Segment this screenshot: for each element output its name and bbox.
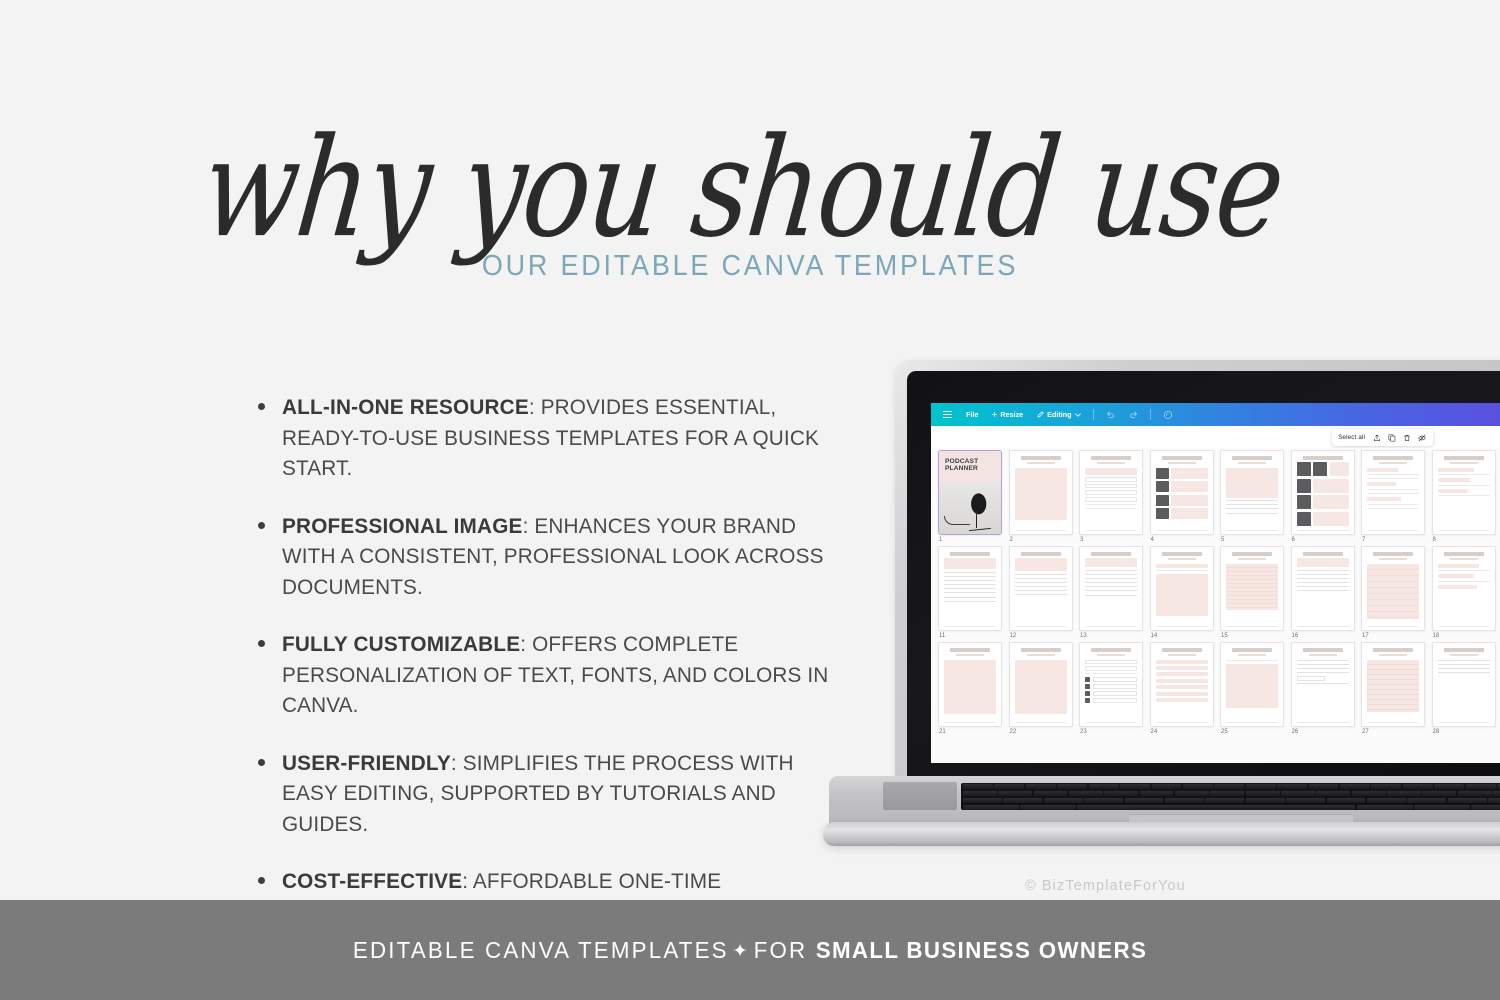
thumb-footer [1439,722,1489,723]
page-number: 6 [1291,535,1355,543]
thumb-field [1297,676,1326,681]
thumb-footer [1016,626,1066,627]
thumb-image-box [1085,698,1090,703]
mic-stand [976,514,977,528]
page-thumbnail-cell[interactable]: 3 [1079,450,1143,543]
thumb-subheading [1450,462,1478,464]
undo-button[interactable] [1099,407,1122,422]
thumb-line [1015,582,1067,583]
canva-action-bar-area: Select all [931,426,1500,448]
list-item-text: PROFESSIONAL IMAGE: ENHANCES YOUR BRAND … [282,511,842,603]
page-thumbnail-cell[interactable]: 22 [1009,642,1073,735]
page-number: 8 [1432,535,1496,543]
thumb-field [1085,477,1137,482]
thumb-block [1226,664,1278,708]
page-action-toolbar: Select all [1332,429,1433,446]
page-number: 2 [1009,535,1073,543]
thumb-subheading [1238,654,1266,656]
watermark: © BizTemplateForYou [1025,878,1186,894]
thumb-heading [1162,648,1202,652]
thumb-line [944,580,996,581]
hide-eye-icon[interactable] [1416,432,1427,443]
page-number: 17 [1361,631,1425,639]
thumb-subheading [1168,654,1196,656]
page-thumbnail[interactable] [1220,450,1284,535]
thumb-heading [1091,648,1131,652]
thumb-subheading [1097,654,1125,656]
page-thumbnail[interactable] [1291,546,1355,631]
resize-label: Resize [1000,410,1023,419]
thumb-field [1085,484,1137,489]
thumb-pill [1156,692,1208,696]
cover-title: PODCASTPLANNER [945,458,997,473]
thumb-heading [1303,456,1343,460]
thumb-image-row [1156,481,1208,492]
thumb-block [1156,574,1208,616]
footer-text: EDITABLE CANVA TEMPLATES✦FOR SMALL BUSIN… [353,937,1147,964]
canva-pages-grid[interactable]: PODCASTPLANNER 1 [931,448,1500,763]
thumb-line [944,572,996,573]
thumb-line [1367,493,1419,494]
page-thumbnail[interactable] [1009,642,1073,727]
mic-cable [944,516,970,525]
page-thumbnail[interactable] [1432,450,1496,535]
thumb-line [1085,586,1137,587]
footer-banner: EDITABLE CANVA TEMPLATES✦FOR SMALL BUSIN… [0,900,1500,1000]
page-subtitle: OUR EDITABLE CANVA TEMPLATES [53,250,1448,283]
microphone-photo [939,482,1001,534]
thumb-line [1438,660,1490,661]
thumb-line [1438,474,1490,475]
thumb-footer [1157,626,1207,627]
page-thumbnail[interactable] [1220,546,1284,631]
chevron-down-icon [1075,413,1081,417]
keyboard-row [961,804,1500,810]
page-number: 16 [1291,631,1355,639]
page-number: 4 [1150,535,1214,543]
list-item: ALL-IN-ONE RESOURCE: PROVIDES ESSENTIAL,… [252,392,862,484]
thumb-line [1015,594,1067,595]
trash-icon[interactable] [1401,432,1412,443]
page-number: 3 [1079,535,1143,543]
thumb-footer [1086,626,1136,627]
list-item: PROFESSIONAL IMAGE: ENHANCES YOUR BRAND … [252,511,862,603]
thumb-line [944,597,996,598]
thumb-block [1171,481,1208,492]
thumb-line [1015,574,1067,575]
thumb-image-row [1156,495,1208,506]
thumb-line [1297,683,1349,684]
page-row: PODCASTPLANNER 1 [938,450,1500,543]
page-thumbnail[interactable] [1361,546,1425,631]
bullet-dot-icon [258,403,265,410]
hamburger-menu-icon[interactable] [939,411,959,419]
page-number: 28 [1432,727,1496,735]
thumb-pill [1156,564,1208,568]
page-thumbnail[interactable] [1432,642,1496,727]
page-thumbnail[interactable] [1150,450,1214,535]
page-thumbnail-cell[interactable]: 14 [1150,546,1214,639]
thumb-line [1297,586,1349,587]
thumb-pill [1156,679,1208,683]
thumb-block [1171,495,1208,506]
thumb-line [1226,508,1278,509]
thumb-block [1226,468,1278,498]
thumb-pill [1367,482,1396,486]
diamond-icon: ✦ [729,941,754,962]
thumb-footer [1016,722,1066,723]
page-thumbnail[interactable] [1079,546,1143,631]
thumb-image-box [1313,462,1327,476]
keyboard-row [961,783,1500,790]
thumb-line [1226,513,1278,514]
laptop-base-front [823,822,1500,846]
canva-toolbar: File Resize Editing [931,403,1500,426]
page-thumbnail[interactable] [1009,450,1073,535]
thumb-image-row [1085,677,1137,682]
thumb-line [1297,668,1349,669]
thumb-block [944,660,996,714]
thumb-field [1093,684,1138,689]
page-thumbnail-cell[interactable]: 24 [1150,642,1214,735]
thumb-line [1085,570,1137,571]
thumb-line [1438,668,1490,669]
keyboard-row [961,797,1500,804]
mic-legs [969,528,991,532]
list-item: FULLY CUSTOMIZABLE: OFFERS COMPLETE PERS… [252,629,862,721]
thumb-image-row [1085,698,1137,703]
keyboard-row [961,790,1500,797]
page-thumbnail-cell[interactable]: 5 [1220,450,1284,543]
thumb-line [1085,673,1137,674]
page-thumbnail-cell[interactable]: 13 [1079,546,1143,639]
page-thumbnail[interactable] [1220,642,1284,727]
page-thumbnail-cell[interactable]: 7 [1361,450,1425,543]
resize-button[interactable]: Resize [985,407,1030,422]
laptop-keyboard [961,783,1500,810]
thumb-pill [1438,489,1468,493]
thumb-line [1156,570,1208,571]
thumb-image-box [1297,462,1311,476]
page-header: why you should use OUR EDITABLE CANVA TE… [0,0,1500,310]
select-all-button[interactable]: Select all [1338,434,1367,441]
thumb-subheading [1027,462,1055,464]
thumb-image-row [1297,479,1349,493]
footer-strong: SMALL BUSINESS OWNERS [816,937,1147,963]
thumb-pill [1438,478,1470,482]
thumb-image-row [1156,508,1208,519]
thumb-block [1330,462,1349,476]
thumb-footer [1368,722,1418,723]
thumb-footer [1227,626,1277,627]
redo-button[interactable] [1122,407,1145,422]
editing-mode-button[interactable]: Editing [1030,407,1087,422]
thumb-pill [1438,585,1477,589]
page-thumbnail[interactable] [1150,642,1214,727]
thumb-subheading [1238,558,1266,560]
page-number: 23 [1079,727,1143,735]
thumb-footer [1157,722,1207,723]
page-thumbnail[interactable] [1291,642,1355,727]
thumb-line [1226,500,1278,501]
page-number: 18 [1432,631,1496,639]
thumb-pill [1156,685,1208,689]
page-number: 25 [1220,727,1284,735]
thumb-image-row [1297,512,1349,526]
page-title: why you should use [0,118,1500,261]
thumb-subheading [956,654,984,656]
thumb-heading [1373,456,1413,460]
thumb-footer [1016,530,1066,531]
thumb-image-row [1297,462,1349,476]
laptop-base [823,776,1500,862]
thumb-pill [1367,468,1398,472]
thumb-image-row [1297,495,1349,509]
thumb-footer [1439,530,1489,531]
thumb-line [1085,574,1137,575]
pencil-icon [1037,411,1044,418]
thumb-image-box [1156,468,1169,479]
toolbar-divider [1093,409,1094,420]
thumb-pill [1156,660,1208,664]
footer-lead: EDITABLE CANVA TEMPLATES [353,937,729,963]
page-thumbnail[interactable] [1009,546,1073,631]
page-thumbnail-cell[interactable]: 23 [1079,642,1143,735]
thumb-heading [1021,456,1061,460]
page-number: 7 [1361,535,1425,543]
thumb-pill [1438,574,1474,578]
thumb-field [1093,698,1138,703]
thumb-heading [1021,648,1061,652]
thumb-line [1297,578,1349,579]
thumb-line [1438,495,1490,496]
thumb-footer [1298,530,1348,531]
thumb-block [1015,558,1067,571]
page-thumbnail[interactable] [1432,546,1496,631]
thumb-image-box [1085,677,1090,682]
thumb-pill [1438,564,1480,568]
thumb-field [1085,666,1137,671]
cloud-sync-button[interactable] [1156,407,1180,422]
thumb-line [1226,660,1278,661]
page-thumbnail-cell[interactable]: 27 [1361,642,1425,735]
page-thumbnail-cell[interactable]: 16 [1291,546,1355,639]
laptop-base-top [829,776,1500,826]
thumb-line [1297,582,1349,583]
thumb-heading [950,552,990,556]
footer-mid: FOR [754,937,808,963]
benefits-list: ALL-IN-ONE RESOURCE: PROVIDES ESSENTIAL,… [252,392,862,985]
laptop-mockup: File Resize Editing [823,360,1500,870]
page-thumbnail-cell[interactable]: PODCASTPLANNER 1 [938,450,1002,543]
thumb-line [1297,590,1349,591]
thumb-block-lined [1226,564,1278,610]
page-thumbnail-cell[interactable]: 12 [1009,546,1073,639]
page-thumbnail-cell[interactable]: 25 [1220,642,1284,735]
thumb-block [1085,558,1137,567]
page-number: 24 [1150,727,1214,735]
thumb-footer [1298,722,1348,723]
thumb-image-box [1085,684,1090,689]
thumb-footer [1086,530,1136,531]
thumb-line [1297,660,1349,661]
list-item-term: ALL-IN-ONE RESOURCE [282,395,529,419]
thumb-footer [1298,626,1348,627]
page-number: 1 [938,535,1002,543]
thumb-subheading [1379,558,1407,560]
page-thumbnail[interactable] [938,642,1002,727]
list-item-term: FULLY CUSTOMIZABLE [282,632,520,656]
thumb-image-row [1085,691,1137,696]
page-thumbnail-cell[interactable]: 4 [1150,450,1214,543]
list-item: USER-FRIENDLY: SIMPLIFIES THE PROCESS WI… [252,748,862,840]
page-thumbnail[interactable] [1150,546,1214,631]
laptop-speaker-grille [883,782,957,810]
thumb-heading [1444,456,1484,460]
thumb-line [1015,590,1067,591]
thumb-block [1313,479,1349,493]
thumb-heading [1373,648,1413,652]
thumb-line [1367,504,1419,505]
thumb-heading [1091,552,1131,556]
thumb-subheading [1379,462,1407,464]
thumb-heading [1091,456,1131,460]
thumb-heading [1373,552,1413,556]
thumb-block [1171,508,1208,519]
page-thumbnail-cell[interactable]: 2 [1009,450,1073,543]
thumb-heading [1232,648,1272,652]
redo-icon [1129,410,1138,419]
page-thumbnail[interactable] [1361,642,1425,727]
thumb-footer [1439,626,1489,627]
thumb-line [1438,664,1490,665]
cloud-sync-icon [1163,410,1173,420]
thumb-subheading [1027,654,1055,656]
page-thumbnail[interactable] [938,546,1002,631]
thumb-line [1085,504,1137,505]
thumb-footer [945,626,995,627]
list-item-term: USER-FRIENDLY [282,751,451,775]
thumb-footer [1227,530,1277,531]
thumb-subheading [1379,654,1407,656]
page-thumbnail-cover[interactable]: PODCASTPLANNER [938,450,1002,535]
thumb-heading [1303,552,1343,556]
list-item-term: COST-EFFECTIVE [282,869,462,893]
share-upload-icon[interactable] [1371,432,1382,443]
thumb-image-box [1156,495,1169,506]
thumb-line [1015,586,1067,587]
thumb-line [1438,485,1490,486]
thumb-image-box [1297,479,1311,493]
thumb-footer [1157,530,1207,531]
page-thumbnail-cell[interactable]: 6 [1291,450,1355,543]
thumb-line [1226,504,1278,505]
thumb-heading [1021,552,1061,556]
thumb-subheading [1168,462,1196,464]
thumb-line [1438,581,1490,582]
page-thumbnail-cell[interactable]: 11 [938,546,1002,639]
thumb-pill [1156,698,1208,702]
duplicate-icon[interactable] [1386,432,1397,443]
page-thumbnail[interactable] [1361,450,1425,535]
thumb-line [1015,578,1067,579]
page-thumbnail-cell[interactable]: 17 [1361,546,1425,639]
thumb-line [944,588,996,589]
page-number: 14 [1150,631,1214,639]
list-item-text: FULLY CUSTOMIZABLE: OFFERS COMPLETE PERS… [282,629,842,721]
thumb-heading [1232,552,1272,556]
page-number: 21 [938,727,1002,735]
page-row: 21 22 [938,642,1500,735]
thumb-heading [1303,648,1343,652]
thumb-line [1085,508,1137,509]
thumb-heading [1232,456,1272,460]
thumb-line [1297,664,1349,665]
thumb-image-row [1085,684,1137,689]
page-thumbnail-cell[interactable]: 18 [1432,546,1496,639]
thumb-field [1085,497,1137,502]
bullet-dot-icon [258,759,265,766]
thumb-block [1085,468,1137,475]
thumb-heading [1162,552,1202,556]
thumb-footer [945,722,995,723]
thumb-block [1313,495,1349,509]
page-thumbnail[interactable] [1291,450,1355,535]
thumb-block [1015,660,1067,714]
page-number: 5 [1220,535,1284,543]
thumb-heading [950,648,990,652]
thumb-footer [1368,530,1418,531]
file-menu-button[interactable]: File [959,407,985,422]
thumb-image-box [1085,691,1090,696]
thumb-line [1085,582,1137,583]
page-thumbnail[interactable] [1079,450,1143,535]
toolbar-divider [1150,409,1151,420]
thumb-heading [1444,552,1484,556]
thumb-subheading [1238,462,1266,464]
page-thumbnail-cell[interactable]: 15 [1220,546,1284,639]
thumb-block [1297,558,1349,567]
thumb-field [1093,677,1138,682]
thumb-field [1085,660,1137,665]
thumb-line [944,584,996,585]
thumb-line [1367,478,1419,479]
page-thumbnail-cell[interactable]: 26 [1291,642,1355,735]
thumb-subheading [1168,558,1196,560]
thumb-field [1093,691,1138,696]
thumb-line [1367,508,1419,509]
thumb-line [1297,672,1349,673]
thumb-block [1171,468,1208,479]
page-number: 15 [1220,631,1284,639]
thumb-line [1297,574,1349,575]
thumb-heading [1444,648,1484,652]
page-thumbnail-cell[interactable]: 28 [1432,642,1496,735]
thumb-line [944,601,996,602]
page-number: 12 [1009,631,1073,639]
page-number: 26 [1291,727,1355,735]
cover-title-line2: PLANNER [945,465,978,472]
thumb-subheading [1450,558,1478,560]
list-item-term: PROFESSIONAL IMAGE [282,514,523,538]
page-thumbnail[interactable] [1079,642,1143,727]
page-number: 13 [1079,631,1143,639]
page-thumbnail-cell[interactable]: 21 [938,642,1002,735]
page-number: 11 [938,631,1002,639]
undo-icon [1106,410,1115,419]
thumb-line [1085,578,1137,579]
page-thumbnail-cell[interactable]: 8 [1432,450,1496,543]
